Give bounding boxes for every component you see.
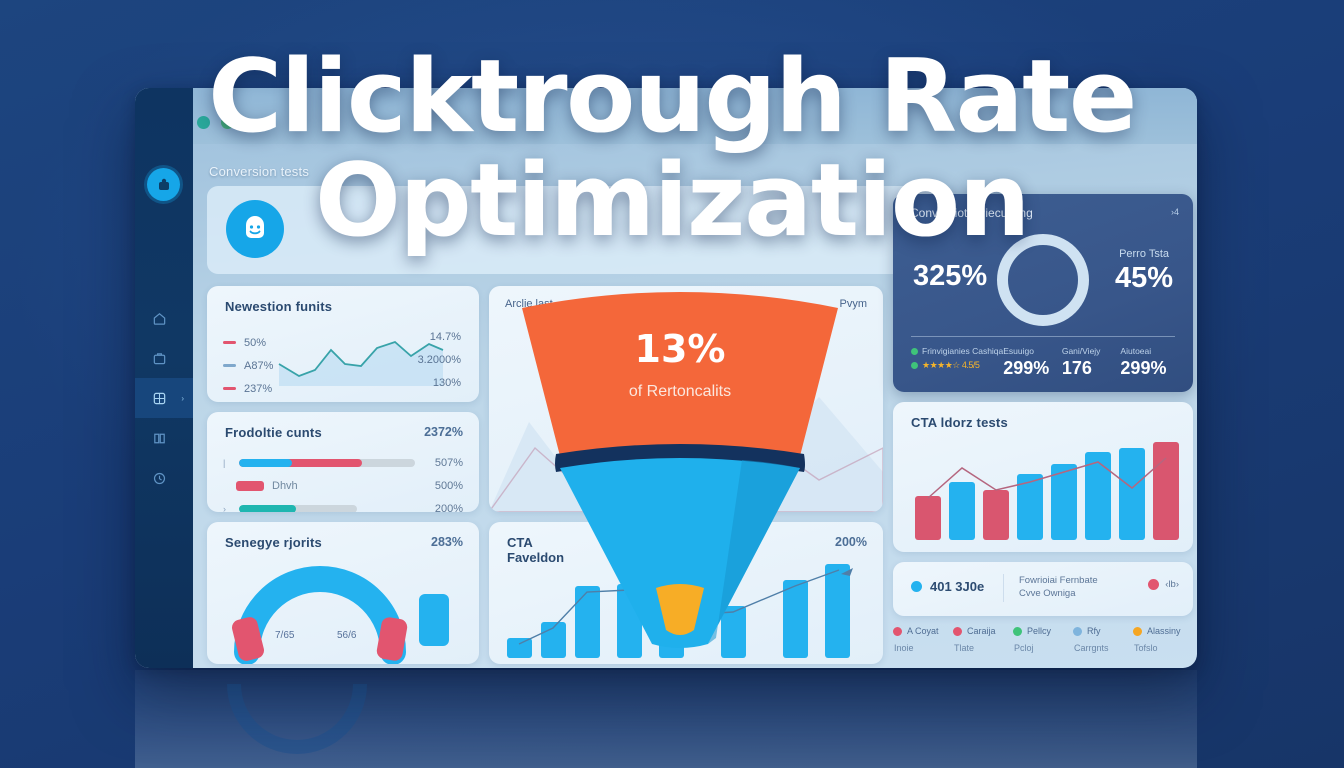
sidebar-chevron-icon: ›: [181, 394, 184, 403]
legend-primary-value: 401 3J0e: [930, 579, 984, 594]
legend-dot-icon: [911, 581, 922, 592]
conversion-big-left: 325%: [913, 260, 987, 293]
stat-item: Gani/Viejy 176: [1062, 346, 1121, 379]
funnel-tag-right: Pvym: [840, 298, 868, 310]
background-mountains: [489, 352, 883, 512]
stat-value: 176: [1062, 358, 1121, 379]
panel-more-icon[interactable]: ›4: [1171, 207, 1179, 217]
trends-card: Newestion funits 50% A87% 237%: [207, 286, 479, 402]
legend-desc-line2: Cvve Owniga: [1019, 587, 1098, 600]
gauge-chart: [231, 556, 409, 664]
progress-value: 507%: [415, 457, 463, 469]
legend-description: Fowrioiai Fernbate Cvve Owniga: [1019, 574, 1098, 600]
legend-label: Rfy: [1087, 626, 1101, 636]
user-badge-icon: [156, 177, 172, 193]
stat-label: Gani/Viejy: [1062, 346, 1101, 356]
home-icon: [152, 311, 167, 326]
grid-icon: [152, 391, 167, 406]
stat-label: Frinvigianies Cashiqa: [922, 346, 1003, 356]
legend-divider: [1003, 574, 1004, 602]
legend-dot-icon: [953, 627, 962, 636]
legend-label: A Coyat: [907, 626, 939, 636]
legend-label: Caraija: [967, 626, 996, 636]
sidebar-item-history[interactable]: [135, 458, 193, 498]
card-grid: Newestion funits 50% A87% 237%: [207, 286, 1185, 656]
legend-item: A87%: [223, 354, 273, 377]
cta-tests-card: CTA ldorz tests: [893, 402, 1193, 552]
sidebar-logo[interactable]: [147, 168, 180, 201]
stat-value: 299%: [1003, 358, 1062, 379]
progress-track: [239, 505, 357, 512]
progress-card: Frodoltie cunts 2372% | 507% Dhvh 500%: [207, 412, 479, 512]
stat-label: Aiutoeai: [1120, 346, 1151, 356]
stat-label: Esuuigo: [1003, 346, 1034, 356]
status-dot-icon: [911, 362, 918, 369]
donut-ring: [997, 234, 1089, 326]
conversion-panel: Conversioto Pieculaing ›4 325% Perro Tst…: [893, 194, 1193, 392]
progress-track: [239, 459, 415, 467]
progress-row: | 507%: [223, 457, 463, 469]
legend-item: 50%: [223, 331, 273, 354]
gauge-tick-left: 7/65: [275, 630, 294, 641]
legend-dot-icon: [1073, 627, 1082, 636]
cta-funnel-card: CTA Faveldon 200%: [489, 522, 883, 664]
funnel-card: Arclie last Pvym: [489, 286, 883, 512]
legend-sublabel: Tlate: [954, 643, 1013, 653]
legend-sublabel: Pcloj: [1014, 643, 1073, 653]
stat-item: Aiutoeai 299%: [1120, 346, 1179, 379]
sidebar-item-library[interactable]: [135, 418, 193, 458]
conversion-panel-title: Conversioto Pieculaing: [910, 206, 1033, 220]
legend-sublabel: Tofslo: [1134, 643, 1193, 653]
briefcase-icon: [152, 351, 167, 366]
footer-legend-item[interactable]: A Coyat Inoie: [893, 626, 953, 668]
sidebar: ›: [135, 88, 193, 668]
trends-values: 14.7% 3.2000% 130%: [418, 331, 461, 400]
trends-legend: 50% A87% 237%: [223, 331, 273, 400]
trend-value: 3.2000%: [418, 354, 461, 377]
trend-value: 130%: [418, 377, 461, 400]
progress-label: Dhvh: [272, 480, 415, 492]
rating-stars: ★★★★☆ 4.5/5: [922, 360, 979, 371]
legend-dot-icon: [1013, 627, 1022, 636]
dashboard-window: › Conversion tests: [135, 88, 1197, 668]
sidebar-nav: ›: [135, 298, 193, 498]
gauge-tick-right: 56/6: [337, 630, 356, 641]
legend-label: Pellcy: [1027, 626, 1051, 636]
clock-icon: [152, 471, 167, 486]
funnel-tag-left: Arclie last: [505, 298, 553, 310]
legend-desc-line1: Fowrioiai Fernbate: [1019, 574, 1098, 587]
row-marker: ›: [223, 504, 232, 512]
legend-secondary[interactable]: ‹lb›: [1148, 579, 1179, 590]
avatar[interactable]: [226, 200, 284, 258]
stat-item: Frinvigianies Cashiqa ★★★★☆ 4.5/5: [911, 346, 1003, 379]
progress-value: 500%: [415, 480, 463, 492]
conversion-right-label: Perro Tsta: [1119, 248, 1169, 260]
trend-value: 14.7%: [418, 331, 461, 354]
cta-bar-chart: [489, 522, 883, 664]
sidebar-item-dashboard[interactable]: ›: [135, 378, 193, 418]
progress-row: › 200%: [223, 503, 463, 512]
gauge-side-bar: [419, 594, 449, 646]
progress-card-value: 2372%: [424, 425, 463, 439]
footer-legend-item[interactable]: Rfy Carrgnts: [1073, 626, 1133, 668]
legend-dot-icon: [1148, 579, 1159, 590]
hero-card: [207, 186, 947, 274]
legend-secondary-label: ‹lb›: [1165, 579, 1179, 590]
legend-card: 401 3J0e Fowrioiai Fernbate Cvve Owniga …: [893, 562, 1193, 616]
smiley-avatar-icon: [238, 212, 272, 246]
footer-legend-item[interactable]: Alassiny Tofslo: [1133, 626, 1193, 668]
gauge-card-title: Senegye rjorits: [225, 535, 322, 550]
cta-tests-bar-chart: [893, 402, 1193, 552]
status-dot-icon: [911, 348, 918, 355]
footer-legend: A Coyat Inoie Caraija Tlate Pellcy Pcloj…: [893, 626, 1193, 668]
legend-primary: 401 3J0e: [911, 579, 984, 594]
footer-legend-item[interactable]: Caraija Tlate: [953, 626, 1013, 668]
legend-dot-icon: [893, 627, 902, 636]
section-label: Conversion tests: [209, 164, 309, 179]
content-area: Conversion tests Newestion funits: [193, 88, 1197, 668]
book-icon: [152, 431, 167, 446]
progress-value: 200%: [415, 503, 463, 512]
progress-card-title: Frodoltie cunts: [225, 425, 322, 440]
row-marker: |: [223, 458, 232, 468]
footer-legend-item[interactable]: Pellcy Pcloj: [1013, 626, 1073, 668]
gauge-card-value: 283%: [431, 535, 463, 549]
legend-item: 237%: [223, 377, 273, 400]
stat-item: Esuuigo 299%: [1003, 346, 1062, 379]
legend-sublabel: Inoie: [894, 643, 953, 653]
conversion-big-right: 45%: [1115, 262, 1173, 295]
legend-sublabel: Carrgnts: [1074, 643, 1133, 653]
conversion-stats: Frinvigianies Cashiqa ★★★★☆ 4.5/5 Esuuig…: [911, 346, 1179, 379]
sidebar-item-home[interactable]: [135, 298, 193, 338]
gauge-card: Senegye rjorits 283% 7/65 56/6: [207, 522, 479, 664]
sidebar-item-projects[interactable]: [135, 338, 193, 378]
panel-divider: [911, 336, 1175, 337]
legend-label: Alassiny: [1147, 626, 1181, 636]
legend-dot-icon: [1133, 627, 1142, 636]
progress-row: Dhvh 500%: [223, 480, 463, 492]
stat-value: 299%: [1120, 358, 1179, 379]
